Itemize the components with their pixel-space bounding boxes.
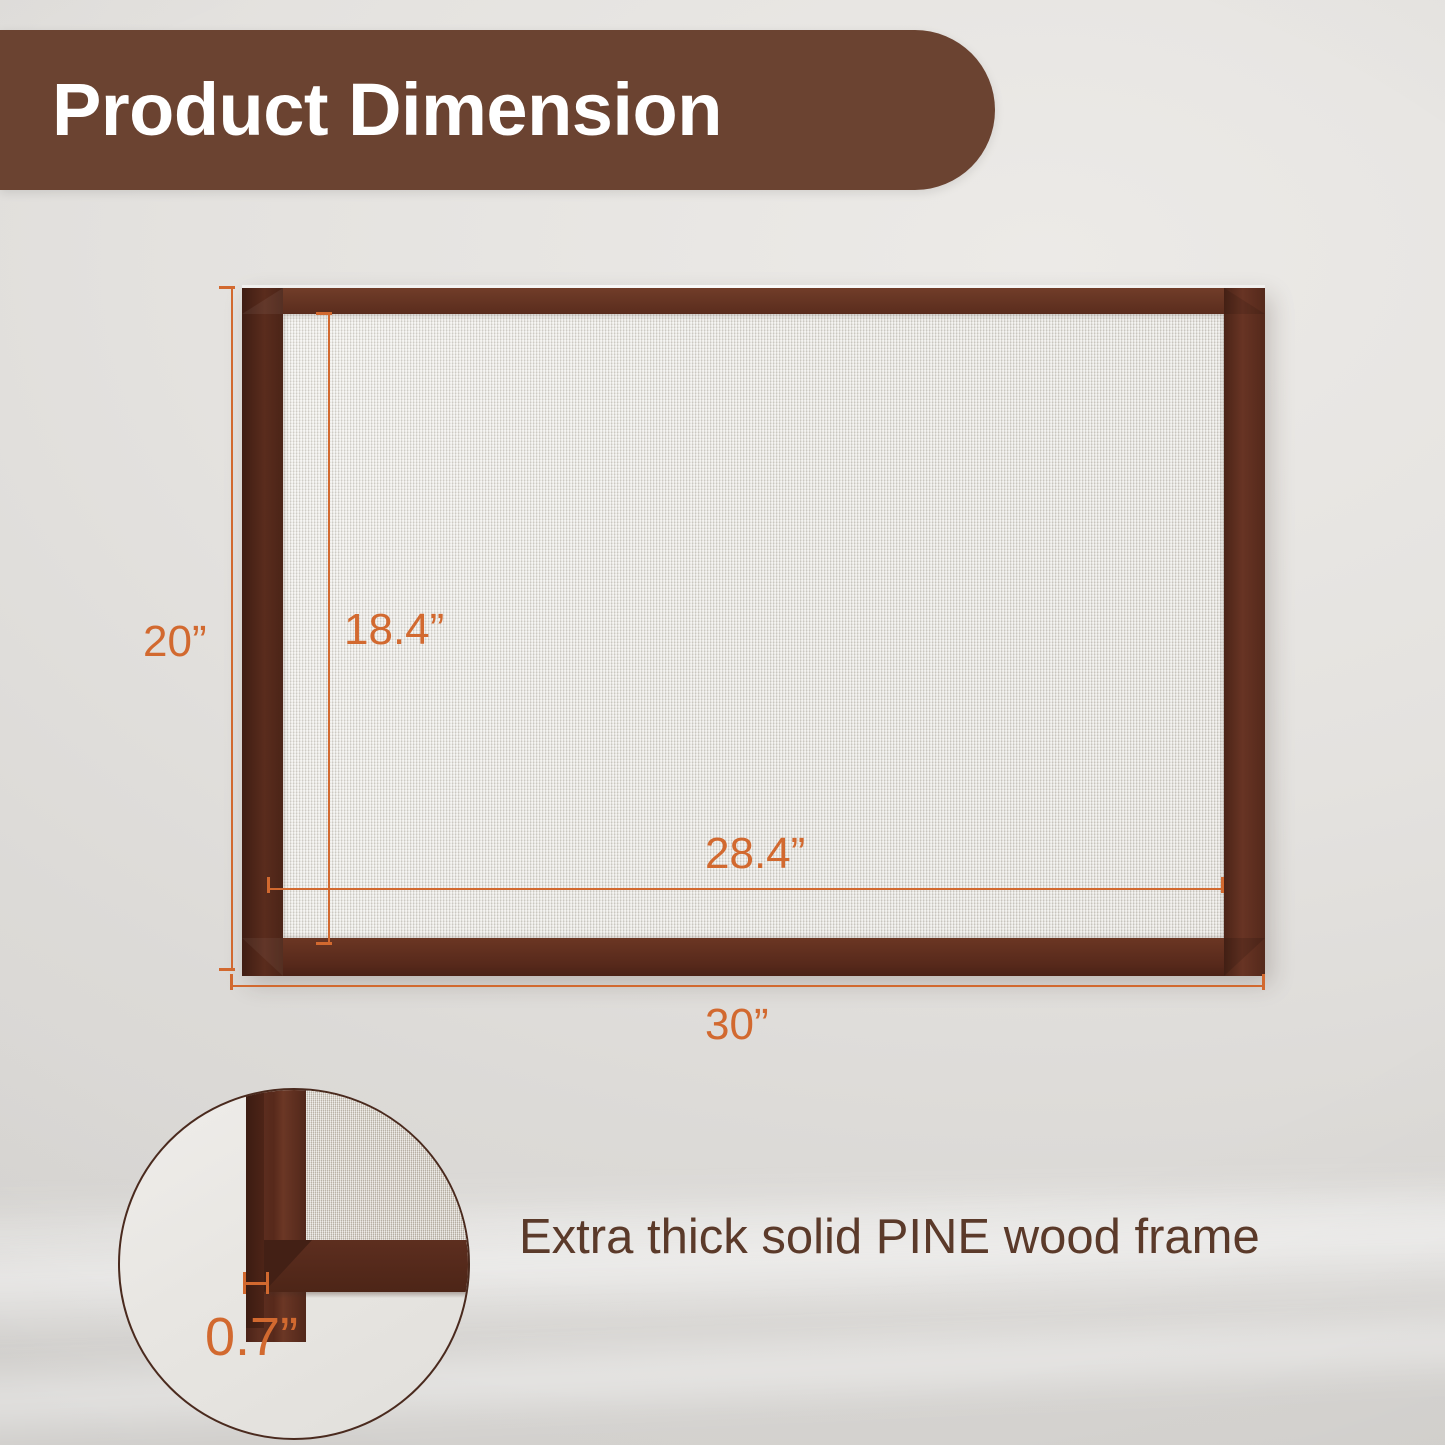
dimension-tick-overall-height-top: [219, 286, 235, 289]
thickness-bar: [243, 1282, 269, 1285]
dimension-tick-inner-width-right: [1221, 877, 1224, 893]
header-banner: Product Dimension: [0, 30, 995, 190]
dimension-label-overall-width: 30”: [705, 1003, 769, 1047]
frame-rail-top: [242, 288, 1265, 314]
dimension-line-overall-height: [231, 287, 233, 971]
feature-caption: Extra thick solid PINE wood frame: [519, 1213, 1260, 1262]
dimension-marker-thickness: [243, 1272, 269, 1294]
frame-rail-left: [242, 288, 283, 976]
infographic-canvas: Product Dimension 20” 18.4” 28.4” 30”: [0, 0, 1445, 1445]
dimension-label-inner-height: 18.4”: [344, 608, 444, 652]
dimension-tick-overall-width-right: [1262, 974, 1265, 990]
dimension-tick-overall-width-left: [230, 974, 233, 990]
dimension-label-overall-height: 20”: [143, 620, 207, 664]
dimension-tick-inner-height-top: [316, 312, 332, 315]
page-title: Product Dimension: [52, 73, 722, 147]
dimension-tick-inner-height-bottom: [316, 942, 332, 945]
dimension-line-inner-width: [268, 888, 1224, 890]
dimension-tick-inner-width-left: [267, 877, 270, 893]
frame-miter-top-left: [242, 288, 283, 314]
dimension-line-overall-width: [231, 985, 1265, 987]
frame-miter-bottom-right: [1224, 938, 1265, 976]
frame-miter-bottom-left: [242, 938, 283, 976]
frame-rail-right: [1224, 288, 1265, 976]
frame-thickness-detail-circle: [118, 1088, 470, 1440]
frame-rail-bottom: [242, 938, 1265, 976]
frame-miter-top-right: [1224, 288, 1265, 314]
dimension-line-inner-height: [328, 313, 330, 945]
dimension-tick-overall-height-bottom: [219, 968, 235, 971]
detail-linen-fabric: [306, 1088, 470, 1256]
dimension-label-thickness: 0.7”: [205, 1310, 298, 1364]
detail-frame-miter-joint: [264, 1240, 312, 1292]
detail-frame-shadow: [264, 1292, 470, 1298]
dimension-label-inner-width: 28.4”: [705, 832, 805, 876]
